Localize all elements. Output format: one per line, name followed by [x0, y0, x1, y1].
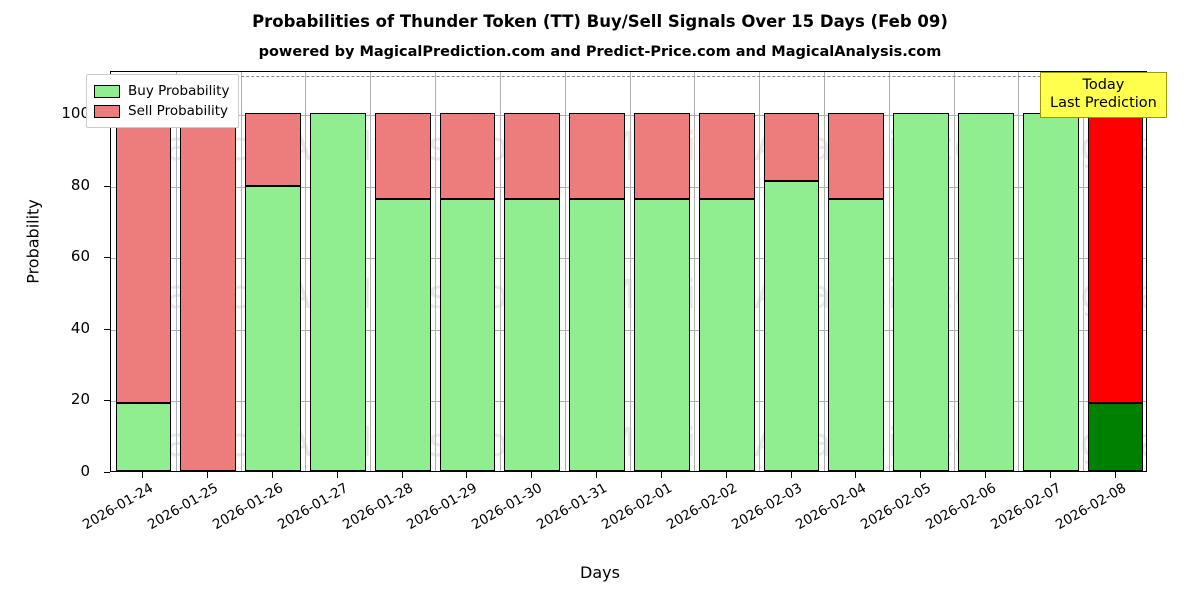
- bar-2026-01-24[interactable]: [116, 71, 172, 471]
- plot-area: MagicalAnalysis.comMagicalAnalysis.comMa…: [110, 71, 1147, 472]
- x-tick-mark: [207, 472, 208, 478]
- bar-2026-02-03[interactable]: [764, 71, 820, 471]
- bar-segment-sell[interactable]: [569, 113, 625, 199]
- bar-2026-02-07[interactable]: [1023, 71, 1079, 471]
- gridline-vertical: [241, 72, 242, 471]
- y-tick-label: 80: [10, 176, 90, 194]
- bar-2026-02-05[interactable]: [893, 71, 949, 471]
- legend-item-label: Buy Probability: [128, 83, 229, 99]
- bar-2026-01-30[interactable]: [504, 71, 560, 471]
- today-annotation-line1: Today: [1050, 77, 1157, 95]
- gridline-vertical: [954, 72, 955, 471]
- bar-segment-sell[interactable]: [440, 113, 496, 199]
- bar-segment-sell[interactable]: [764, 113, 820, 181]
- chart-subtitle: powered by MagicalPrediction.com and Pre…: [0, 44, 1200, 60]
- x-tick-mark: [402, 472, 403, 478]
- y-tick-label: 100: [10, 104, 90, 122]
- gridline-vertical: [176, 72, 177, 471]
- gridline-vertical: [824, 72, 825, 471]
- x-axis-label: Days: [0, 563, 1200, 582]
- gridline-vertical: [565, 72, 566, 471]
- y-tick-mark: [104, 472, 110, 473]
- legend-swatch-icon: [94, 85, 120, 98]
- x-tick-mark: [596, 472, 597, 478]
- legend-swatch-icon: [94, 105, 120, 118]
- bar-2026-01-29[interactable]: [440, 71, 496, 471]
- bar-segment-sell[interactable]: [828, 113, 884, 199]
- bar-segment-buy[interactable]: [958, 113, 1014, 471]
- gridline-vertical: [630, 72, 631, 471]
- x-tick-mark: [466, 472, 467, 478]
- bar-segment-sell[interactable]: [504, 113, 560, 199]
- bar-segment-buy[interactable]: [504, 199, 560, 471]
- bar-2026-01-25[interactable]: [180, 71, 236, 471]
- bar-2026-02-02[interactable]: [699, 71, 755, 471]
- bar-segment-buy[interactable]: [375, 199, 431, 471]
- bar-segment-buy[interactable]: [440, 199, 496, 471]
- bar-2026-02-06[interactable]: [958, 71, 1014, 471]
- gridline-vertical: [370, 72, 371, 471]
- bar-segment-sell[interactable]: [375, 113, 431, 199]
- gridline-vertical: [305, 72, 306, 471]
- x-tick-mark: [791, 472, 792, 478]
- bar-segment-buy[interactable]: [893, 113, 949, 471]
- x-tick-mark: [272, 472, 273, 478]
- bar-segment-buy[interactable]: [634, 199, 690, 471]
- chart-title: Probabilities of Thunder Token (TT) Buy/…: [0, 12, 1200, 31]
- x-tick-mark: [1115, 472, 1116, 478]
- bar-2026-02-01[interactable]: [634, 71, 690, 471]
- x-tick-mark: [855, 472, 856, 478]
- x-tick-mark: [726, 472, 727, 478]
- y-tick-mark: [104, 186, 110, 187]
- bar-segment-sell[interactable]: [1088, 113, 1144, 403]
- x-tick-mark: [337, 472, 338, 478]
- bar-segment-buy[interactable]: [828, 199, 884, 471]
- bar-2026-01-27[interactable]: [310, 71, 366, 471]
- y-tick-label: 0: [10, 462, 90, 480]
- bar-segment-buy[interactable]: [569, 199, 625, 471]
- gridline-vertical: [1083, 72, 1084, 471]
- bar-segment-buy[interactable]: [764, 181, 820, 471]
- bar-2026-02-08[interactable]: [1088, 71, 1144, 471]
- y-tick-label: 20: [10, 390, 90, 408]
- gridline-vertical: [889, 72, 890, 471]
- gridline-vertical: [500, 72, 501, 471]
- bar-2026-01-28[interactable]: [375, 71, 431, 471]
- bar-segment-buy[interactable]: [1088, 403, 1144, 471]
- y-tick-mark: [104, 257, 110, 258]
- x-tick-mark: [531, 472, 532, 478]
- bar-segment-sell[interactable]: [634, 113, 690, 199]
- bar-segment-sell[interactable]: [180, 113, 236, 471]
- x-tick-mark: [142, 472, 143, 478]
- legend-item-buy[interactable]: Buy Probability: [94, 81, 229, 101]
- bar-segment-buy[interactable]: [116, 403, 172, 471]
- bar-2026-01-26[interactable]: [245, 71, 301, 471]
- bar-2026-02-04[interactable]: [828, 71, 884, 471]
- today-annotation: Today Last Prediction: [1040, 72, 1167, 118]
- bar-segment-buy[interactable]: [310, 113, 366, 471]
- bar-segment-buy[interactable]: [699, 199, 755, 471]
- x-tick-mark: [920, 472, 921, 478]
- x-tick-mark: [985, 472, 986, 478]
- x-tick-mark: [1050, 472, 1051, 478]
- bar-2026-01-31[interactable]: [569, 71, 625, 471]
- bar-segment-buy[interactable]: [245, 186, 301, 471]
- y-tick-mark: [104, 329, 110, 330]
- y-tick-mark: [104, 400, 110, 401]
- gridline-vertical: [694, 72, 695, 471]
- chart-container: Probabilities of Thunder Token (TT) Buy/…: [0, 0, 1200, 600]
- gridline-vertical: [1018, 72, 1019, 471]
- gridline-vertical: [435, 72, 436, 471]
- today-annotation-line2: Last Prediction: [1050, 95, 1157, 113]
- bar-segment-sell[interactable]: [116, 113, 172, 403]
- y-axis-label: Probability: [24, 147, 43, 337]
- gridline-vertical: [759, 72, 760, 471]
- y-tick-label: 60: [10, 247, 90, 265]
- chart-legend: Buy ProbabilitySell Probability: [86, 74, 239, 128]
- bar-segment-sell[interactable]: [245, 113, 301, 186]
- bar-segment-buy[interactable]: [1023, 113, 1079, 471]
- legend-item-sell[interactable]: Sell Probability: [94, 101, 229, 121]
- y-tick-label: 40: [10, 319, 90, 337]
- bar-segment-sell[interactable]: [699, 113, 755, 199]
- legend-item-label: Sell Probability: [128, 103, 228, 119]
- x-tick-mark: [661, 472, 662, 478]
